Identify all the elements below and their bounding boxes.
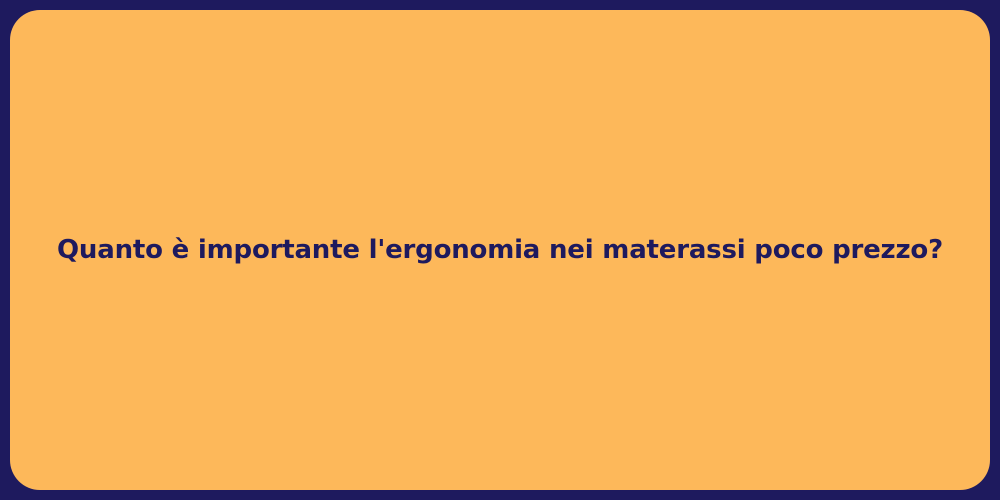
banner-outer-frame: Quanto è importante l'ergonomia nei mate… — [0, 0, 1000, 500]
banner-headline: Quanto è importante l'ergonomia nei mate… — [10, 234, 990, 267]
banner-card: Quanto è importante l'ergonomia nei mate… — [10, 10, 990, 490]
